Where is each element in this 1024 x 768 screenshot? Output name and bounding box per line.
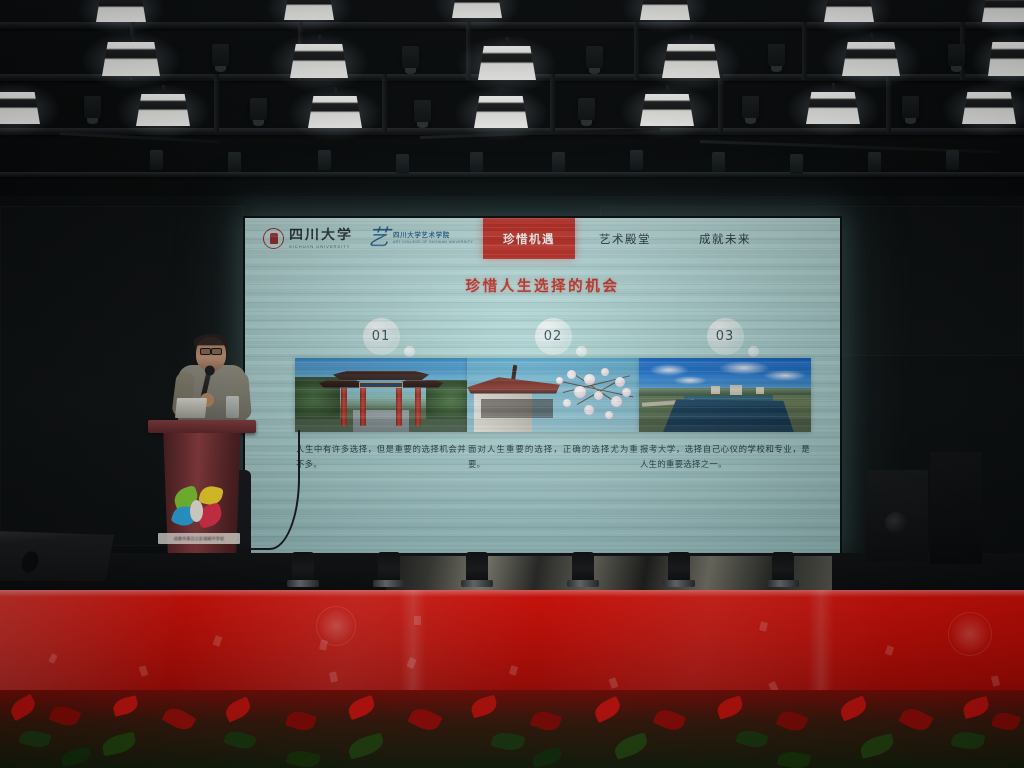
slide-card: 02 bbox=[467, 318, 639, 471]
ceiling-truss-area bbox=[0, 0, 1024, 205]
hanging-moving-head-light bbox=[948, 44, 965, 68]
led-presentation-screen[interactable]: 四川大学 SICHUAN UNIVERSITY 艺 四川大学艺术学院 ART C… bbox=[245, 218, 840, 554]
par-can-light bbox=[150, 150, 163, 170]
floor-moving-head-light bbox=[378, 552, 400, 582]
card-image-temple-blossom bbox=[467, 358, 639, 432]
card-caption: 人生中有许多选择，但是重要的选择机会并不多。 bbox=[295, 442, 467, 471]
podium-name-plate: 成都市青白江区城厢中学校 bbox=[158, 533, 240, 544]
hanging-moving-head-light bbox=[212, 44, 229, 68]
hanging-moving-head-light bbox=[768, 44, 785, 68]
floor-moving-head-light bbox=[572, 552, 594, 582]
card-caption: 报考大学，选择自己心仪的学校和专业，是人生的重要选择之一。 bbox=[639, 442, 811, 471]
par-can-light bbox=[790, 154, 803, 174]
lectern: 成都市青白江区城厢中学校 bbox=[152, 420, 252, 568]
ceiling-light-fixture bbox=[136, 94, 190, 126]
slide-canvas: 四川大学 SICHUAN UNIVERSITY 艺 四川大学艺术学院 ART C… bbox=[245, 218, 840, 554]
glasses-icon bbox=[200, 348, 222, 353]
ceiling-light-fixture bbox=[102, 42, 160, 76]
art-college-logo: 艺 四川大学艺术学院 ART COLLEGE OF SICHUAN UNIVER… bbox=[367, 228, 473, 250]
ceiling-light-fixture bbox=[988, 42, 1024, 76]
card-number-badge: 03 bbox=[707, 318, 744, 355]
card-number-badge: 01 bbox=[363, 318, 400, 355]
university-name-cn: 四川大学 bbox=[289, 228, 353, 241]
nav-tab-future[interactable]: 成就未来 bbox=[675, 218, 775, 259]
art-college-name-en: ART COLLEGE OF SICHUAN UNIVERSITY bbox=[393, 241, 473, 244]
floor-moving-head-light bbox=[772, 552, 794, 582]
ceiling-light-fixture bbox=[308, 96, 362, 128]
ceiling-light-fixture bbox=[640, 94, 694, 126]
ceiling-light-fixture bbox=[824, 0, 874, 22]
university-name-en: SICHUAN UNIVERSITY bbox=[289, 245, 353, 249]
ceiling-light-fixture bbox=[662, 44, 720, 78]
floor-moving-head-light bbox=[466, 552, 488, 582]
slide-header-bar: 四川大学 SICHUAN UNIVERSITY 艺 四川大学艺术学院 ART C… bbox=[245, 218, 840, 259]
card-caption: 面对人生重要的选择，正确的选择尤为重要。 bbox=[467, 442, 639, 471]
art-college-name-cn: 四川大学艺术学院 bbox=[393, 233, 473, 240]
ceiling-light-fixture bbox=[478, 46, 536, 80]
ceiling-light-fixture bbox=[290, 44, 348, 78]
ceiling-light-fixture bbox=[982, 0, 1024, 22]
par-can-light bbox=[552, 152, 565, 172]
stage-monitor-speaker-left bbox=[0, 531, 114, 581]
par-can-light bbox=[712, 152, 725, 172]
ceiling-light-fixture bbox=[284, 0, 334, 20]
reflective-stage-skirt-strip bbox=[386, 556, 832, 590]
sichuan-university-logo: 四川大学 SICHUAN UNIVERSITY bbox=[263, 228, 353, 249]
hanging-moving-head-light bbox=[250, 98, 267, 122]
stage-speaker-right-far bbox=[930, 452, 982, 564]
card-image-campus-lake bbox=[639, 358, 811, 432]
par-can-light bbox=[946, 150, 959, 170]
ceiling-light-fixture bbox=[452, 0, 502, 18]
slide-nav: 珍惜机遇 艺术殿堂 成就未来 bbox=[483, 218, 775, 259]
hanging-moving-head-light bbox=[902, 96, 919, 120]
podium-label-text: 成都市青白江区城厢中学校 bbox=[174, 536, 224, 542]
stage-speaker-right bbox=[866, 470, 928, 562]
ceiling-light-fixture bbox=[96, 0, 146, 22]
par-can-light bbox=[868, 152, 881, 172]
stage-scene: 四川大学 SICHUAN UNIVERSITY 艺 四川大学艺术学院 ART C… bbox=[0, 0, 1024, 768]
butterfly-logo-icon bbox=[172, 486, 230, 530]
poinsettia-flower-row bbox=[0, 690, 1024, 768]
par-can-light bbox=[630, 150, 643, 170]
card-image-paifang-gate bbox=[295, 358, 467, 432]
par-can-light bbox=[470, 152, 483, 172]
hanging-moving-head-light bbox=[84, 96, 101, 120]
hanging-moving-head-light bbox=[402, 46, 419, 70]
par-can-light bbox=[396, 154, 409, 174]
ceiling-light-fixture bbox=[962, 92, 1016, 124]
laptop-on-podium bbox=[175, 398, 207, 418]
slide-cards: 01 bbox=[245, 318, 840, 471]
floor-moving-head-light bbox=[292, 552, 314, 582]
par-can-light bbox=[318, 150, 331, 170]
ceiling-light-fixture bbox=[640, 0, 690, 20]
ceiling-light-fixture bbox=[842, 42, 900, 76]
bubble-accent-icon bbox=[404, 346, 415, 357]
hanging-moving-head-light bbox=[586, 46, 603, 70]
bubble-accent-icon bbox=[576, 346, 587, 357]
slide-card: 03 bbox=[639, 318, 811, 471]
nav-tab-opportunity[interactable]: 珍惜机遇 bbox=[483, 218, 575, 259]
slide-title: 珍惜人生选择的机会 bbox=[245, 275, 840, 296]
university-seal-icon bbox=[263, 228, 284, 249]
bubble-accent-icon bbox=[748, 346, 759, 357]
floor-moving-head-light bbox=[668, 552, 690, 582]
hanging-moving-head-light bbox=[742, 96, 759, 120]
ceiling-light-fixture bbox=[0, 92, 40, 124]
water-cup bbox=[226, 396, 239, 418]
card-number-badge: 02 bbox=[535, 318, 572, 355]
hanging-moving-head-light bbox=[414, 100, 431, 124]
hanging-moving-head-light bbox=[578, 98, 595, 122]
ceiling-light-fixture bbox=[474, 96, 528, 128]
logo-block: 四川大学 SICHUAN UNIVERSITY 艺 四川大学艺术学院 ART C… bbox=[245, 218, 473, 259]
nav-tab-art-hall[interactable]: 艺术殿堂 bbox=[575, 218, 675, 259]
ceiling-light-fixture bbox=[806, 92, 860, 124]
art-calligraphy-icon: 艺 bbox=[366, 228, 390, 250]
slide-card: 01 bbox=[295, 318, 467, 471]
par-can-light bbox=[228, 152, 241, 172]
